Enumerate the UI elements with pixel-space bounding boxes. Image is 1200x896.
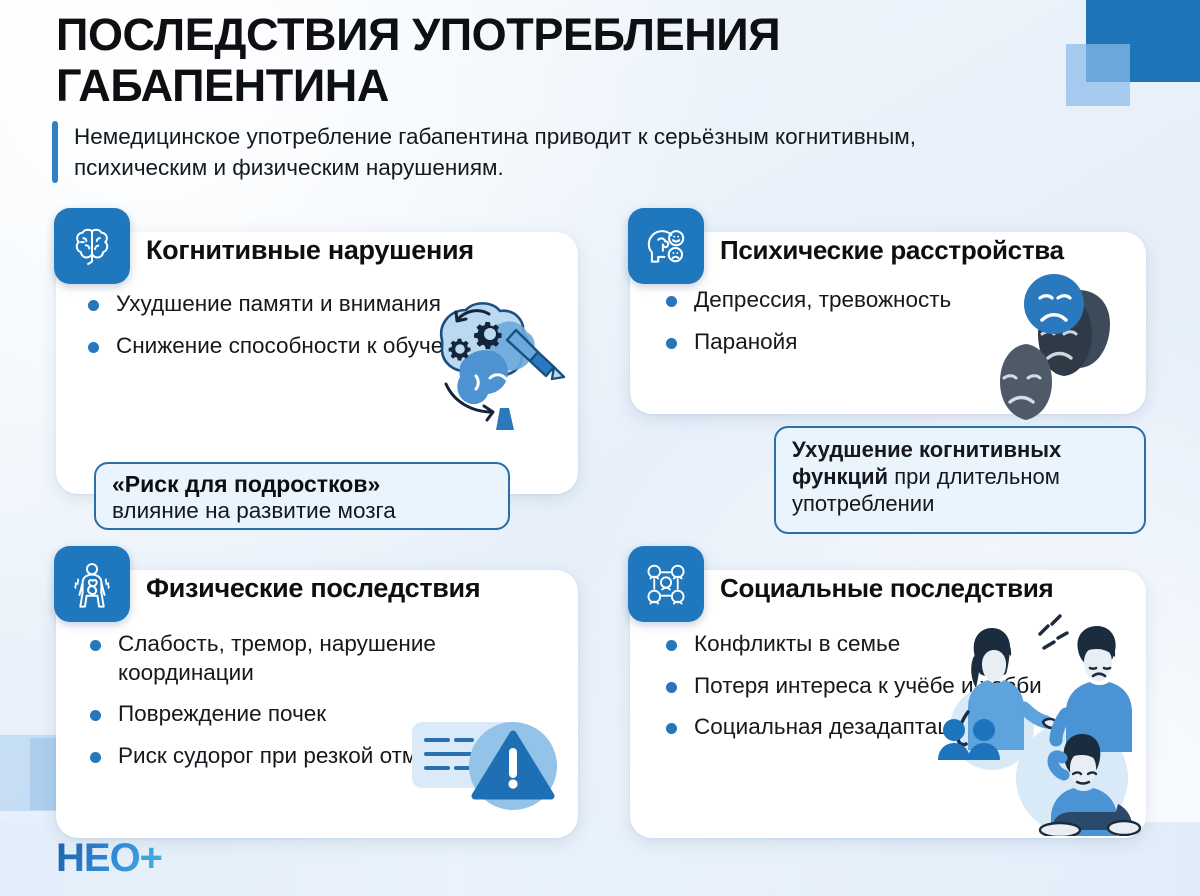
list-item: Ухудшение памяти и внимания [88,290,564,319]
list-item: Риск судорог при резкой отмене [90,742,564,771]
card-title-physical: Физические последствия [146,574,562,604]
card-title-cognitive: Когнитивные нарушения [146,236,562,266]
callout-teens-strong: «Риск для подростков» [112,471,492,498]
page-title: ПОСЛЕДСТВИЯ УПОТРЕБЛЕНИЯ ГАБАПЕНТИНА [56,10,1066,112]
callout-cognitive-decline: Ухудшение когнитивных функций при длител… [774,426,1146,534]
callout-teens-risk: «Риск для подростков» влияние на развити… [94,462,510,530]
bullet-list-social: Конфликты в семье Потеря интереса к учёб… [666,630,1132,755]
list-item: Слабость, тремор, нарушение координации [90,630,564,687]
infographic-page: ПОСЛЕДСТВИЯ УПОТРЕБЛЕНИЯ ГАБАПЕНТИНА Нем… [0,0,1200,896]
list-item: Конфликты в семье [666,630,1132,659]
people-network-icon [628,546,704,622]
head-with-emotions-icon [628,208,704,284]
list-item: Повреждение почек [90,700,564,729]
list-item: Паранойя [666,328,1132,357]
bullet-list-mental: Депрессия, тревожность Паранойя [666,286,1132,369]
card-mental: Психические расстройства Депрессия, трев… [630,232,1146,414]
bullet-list-cognitive: Ухудшение памяти и внимания Снижение спо… [88,290,564,373]
card-title-mental: Психические расстройства [720,236,1130,265]
bullet-list-physical: Слабость, тремор, нарушение координации … [90,630,564,783]
callout-teens-text: влияние на развитие мозга [112,498,492,525]
card-social: Социальные последствия Конфликты в семье… [630,570,1146,838]
list-item: Потеря интереса к учёбе и хобби [666,672,1132,701]
list-item: Снижение способности к обучению [88,332,564,361]
brain-icon [54,208,130,284]
card-physical: Физические последствия Слабость, тремор,… [56,570,578,838]
list-item: Социальная дезадаптация [666,713,1132,742]
human-body-icon [54,546,130,622]
subtitle-accent-bar [52,121,58,183]
list-item: Депрессия, тревожность [666,286,1132,315]
page-subtitle: Немедицинское употребление габапентина п… [74,121,1034,183]
brand-logo: НЕО+ [56,838,162,878]
card-title-social: Социальные последствия [720,574,1130,603]
card-cognitive: Когнитивные нарушения Ухудшение памяти и… [56,232,578,494]
subtitle-block: Немедицинское употребление габапентина п… [52,121,1034,183]
